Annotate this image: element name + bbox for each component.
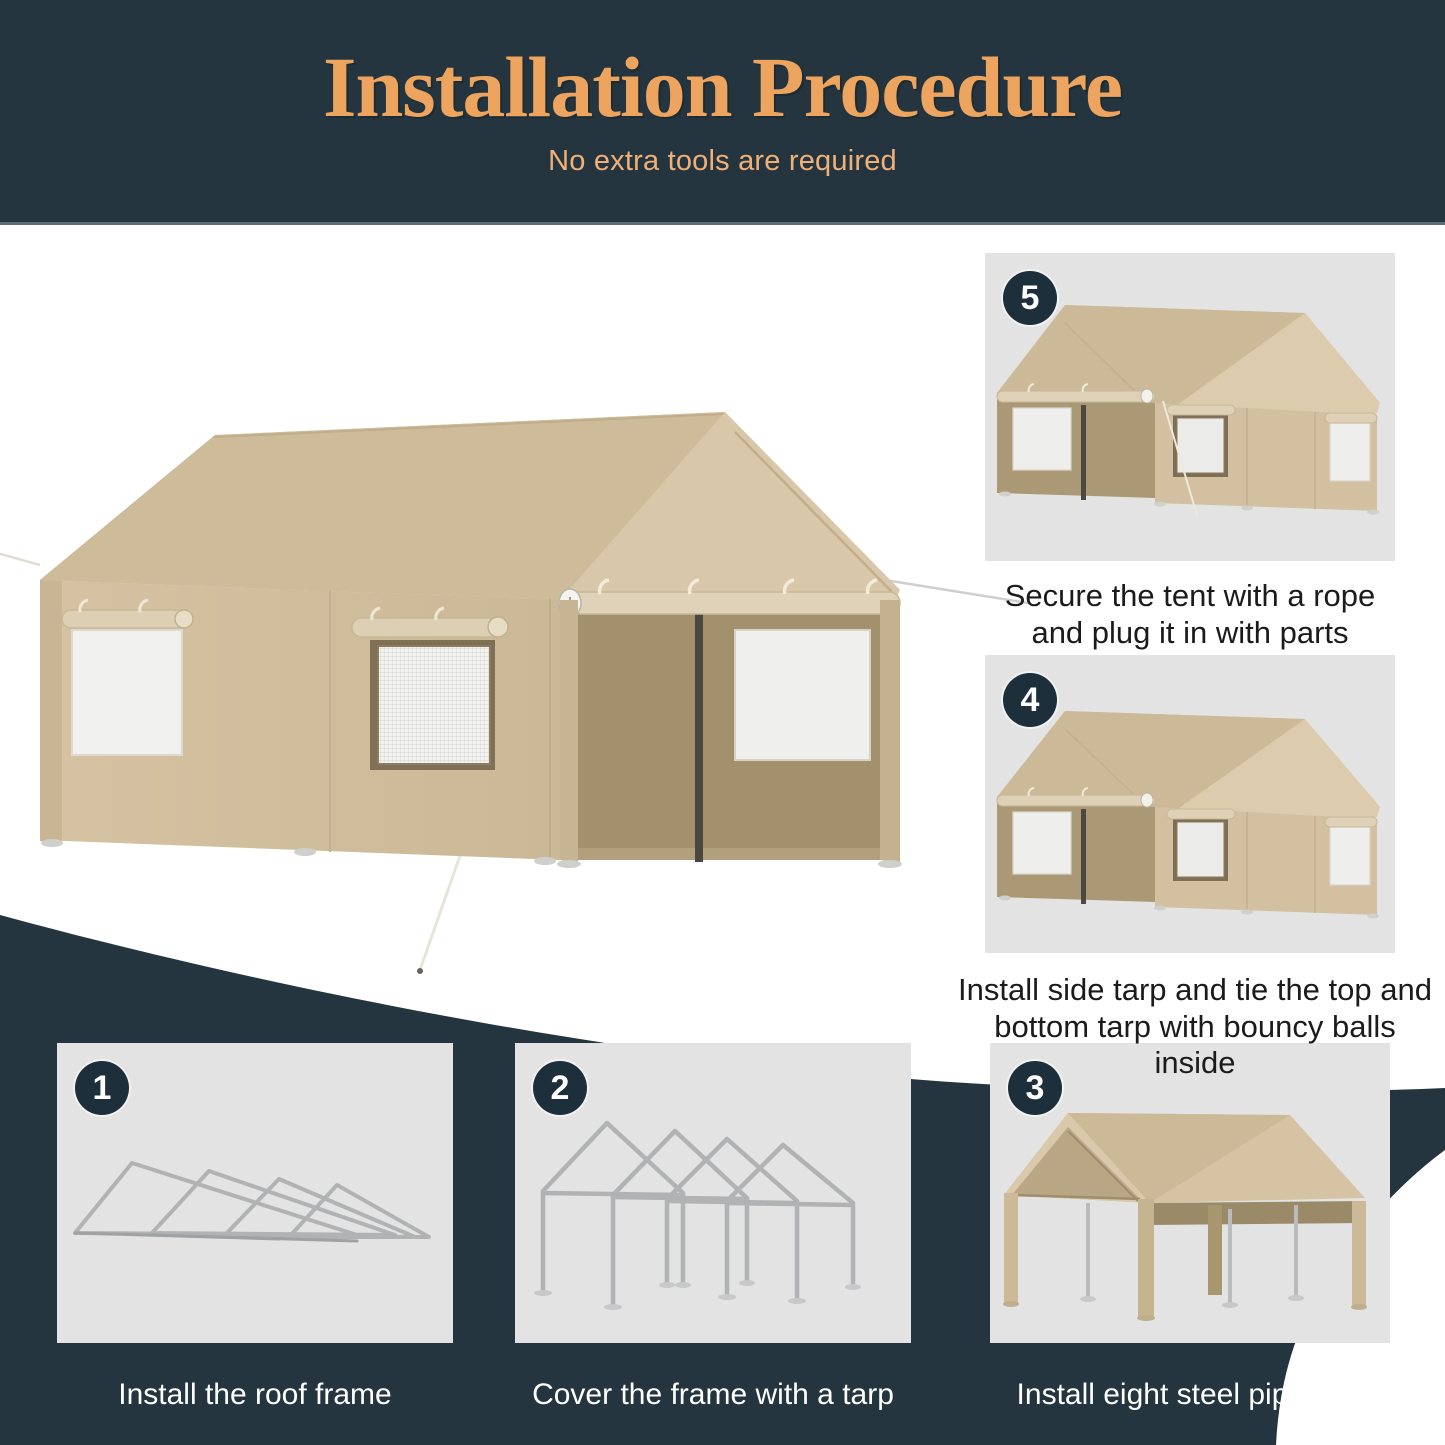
step-caption-2: Cover the frame with a tarp xyxy=(515,1377,911,1413)
step-caption-1-text: Install the roof frame xyxy=(118,1378,391,1411)
step-caption-4-text: Install side tarp and tie the top and bo… xyxy=(958,972,1432,1080)
step-badge-2: 2 xyxy=(533,1061,587,1115)
step-caption-3: Install eight steel pipe feet xyxy=(990,1377,1390,1413)
step-panel-5: 5 xyxy=(985,253,1395,561)
step-caption-4: Install side tarp and tie the top and bo… xyxy=(950,972,1440,1082)
step-caption-5-text: Secure the tent with a rope and plug it … xyxy=(1005,578,1376,650)
header-divider xyxy=(0,222,1445,225)
step-panel-2: 2 xyxy=(515,1043,911,1343)
page-title: Installation Procedure xyxy=(0,42,1445,132)
step-caption-3-text: Install eight steel pipe feet xyxy=(1017,1378,1364,1411)
step-panel-3: 3 xyxy=(990,1043,1390,1343)
step-badge-1: 1 xyxy=(75,1061,129,1115)
step-caption-2-text: Cover the frame with a tarp xyxy=(532,1378,894,1411)
hero-tent-illustration xyxy=(0,300,960,1000)
step-panel-1: 1 xyxy=(57,1043,453,1343)
header-banner: Installation Procedure No extra tools ar… xyxy=(0,0,1445,225)
step-caption-1: Install the roof frame xyxy=(57,1377,453,1413)
infographic-canvas: Installation Procedure No extra tools ar… xyxy=(0,0,1445,1445)
step-badge-4: 4 xyxy=(1003,673,1057,727)
page-subtitle: No extra tools are required xyxy=(0,145,1445,178)
step-badge-5: 5 xyxy=(1003,271,1057,325)
step-caption-5: Secure the tent with a rope and plug it … xyxy=(985,578,1395,651)
step-panel-4: 4 xyxy=(985,655,1395,953)
